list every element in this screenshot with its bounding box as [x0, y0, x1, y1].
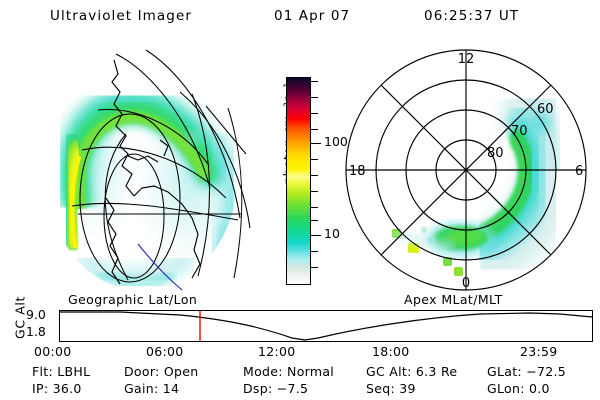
mlt-label-0: 0 — [462, 276, 470, 291]
colorbar-tick — [311, 267, 318, 268]
status-ip: IP: 36.0 — [32, 381, 82, 396]
apex-emission-layer — [392, 105, 557, 276]
time-tick-0: 00:00 — [34, 344, 72, 359]
orbit-altitude-plot[interactable] — [59, 310, 593, 342]
status-door: Door: Open — [124, 364, 198, 379]
colorbar-tick-major — [311, 235, 321, 236]
colorbar-tick — [311, 175, 318, 176]
instrument-title: Ultraviolet Imager — [50, 8, 192, 24]
observation-date: 01 Apr 07 — [274, 8, 350, 24]
colorbar-tick — [311, 220, 318, 221]
status-seq: Seq: 39 — [366, 381, 416, 396]
status-footer: Flt: LBHL Door: Open Mode: Normal GC Alt… — [0, 364, 600, 398]
colorbar[interactable]: photon cm⁻²s⁻¹ 100 10 — [268, 48, 336, 293]
colorbar-tick — [311, 207, 318, 208]
status-dsp: Dsp: −7.5 — [243, 381, 308, 396]
colorbar-tick — [311, 191, 318, 192]
time-tick-2: 12:00 — [258, 344, 296, 359]
geographic-aurora-image — [42, 48, 264, 291]
colorbar-tick — [311, 113, 318, 114]
gc-alt-min-tick: 1.8 — [26, 324, 46, 339]
apex-aurora-dial: 12 18 6 0 60 70 80 — [335, 47, 597, 293]
status-filter: Flt: LBHL — [32, 364, 90, 379]
colorbar-tick — [311, 251, 318, 252]
colorbar-tick — [311, 81, 318, 82]
time-tick-4: 23:59 — [520, 344, 558, 359]
geographic-image-panel[interactable] — [42, 48, 264, 291]
status-glon: GLon: 0.0 — [487, 381, 550, 396]
colorbar-tick — [311, 97, 318, 98]
apex-panel-caption: Apex MLat/MLT — [404, 292, 503, 307]
observation-time: 06:25:37 UT — [424, 8, 519, 24]
status-glat: GLat: −72.5 — [487, 364, 566, 379]
mlt-label-6: 6 — [575, 164, 583, 179]
mlat-label-60: 60 — [537, 102, 554, 117]
status-mode: Mode: Normal — [243, 364, 334, 379]
time-tick-1: 06:00 — [146, 344, 184, 359]
status-gc-alt: GC Alt: 6.3 Re — [366, 364, 457, 379]
colorbar-tick — [311, 129, 318, 130]
colorbar-tick — [311, 159, 318, 160]
mlat-label-70: 70 — [511, 124, 528, 139]
apex-polar-panel[interactable]: 12 18 6 0 60 70 80 — [335, 47, 597, 293]
time-tick-3: 18:00 — [372, 344, 410, 359]
colorbar-scale[interactable] — [286, 77, 311, 285]
mlat-label-80: 80 — [487, 146, 504, 161]
colorbar-gradient — [287, 78, 310, 284]
orbit-altitude-section[interactable]: Geographic Lat/Lon Apex MLat/MLT GC Alt … — [0, 292, 600, 358]
geographic-panel-caption: Geographic Lat/Lon — [68, 292, 197, 307]
status-gain: Gain: 14 — [124, 381, 179, 396]
altitude-curve — [60, 312, 592, 340]
apex-polar-grid — [346, 50, 586, 290]
mlt-label-12: 12 — [458, 52, 475, 67]
orbit-altitude-trace — [60, 311, 592, 341]
mlt-label-18: 18 — [349, 164, 366, 179]
header-bar: Ultraviolet Imager 01 Apr 07 06:25:37 UT — [0, 8, 600, 30]
gc-alt-max-tick: 9.0 — [26, 307, 46, 322]
colorbar-tick-major — [311, 143, 321, 144]
